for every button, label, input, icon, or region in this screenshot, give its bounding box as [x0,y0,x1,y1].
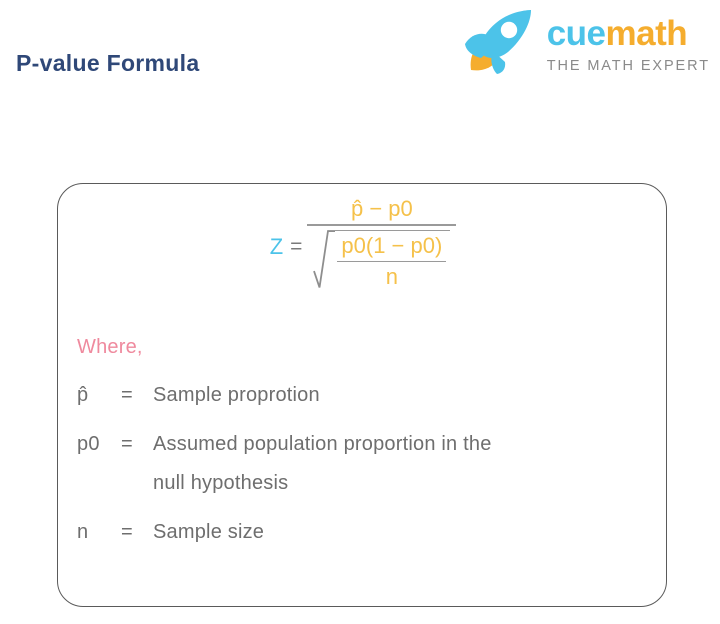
definition-equals: = [121,384,153,407]
fraction-numerator: p̂ − p0 [307,196,456,224]
definitions-list: p̂ = Sample proprotion p0 = Assumed popu… [77,384,657,570]
definition-text: Sample size [153,521,657,544]
brand-name-math: math [606,14,688,53]
definition-symbol: n [77,521,121,544]
where-label: Where, [77,336,143,359]
definition-text-continuation: null hypothesis [153,472,657,495]
definition-row: n = Sample size [77,521,657,544]
brand-name-cue: cue [547,14,606,53]
square-root-icon [313,230,335,292]
definition-row: p̂ = Sample proprotion [77,384,657,407]
definition-row: p0 = Assumed population proportion in th… [77,433,657,456]
brand-wordmark: cuemath [547,16,687,51]
square-root-group: p0(1 − p0) n [313,228,450,292]
definition-symbol: p0 [77,433,121,456]
brand-tagline: THE MATH EXPERT [547,58,710,74]
fraction-denominator: p0(1 − p0) n [307,226,456,298]
definition-symbol: p̂ [77,384,121,407]
radicand-numerator: p0(1 − p0) [337,232,446,261]
equation-equals-sign: = [290,235,302,259]
definition-equals: = [121,433,153,456]
pvalue-equation: Z = p̂ − p0 p0(1 − p0) n [58,196,668,297]
formula-card: Z = p̂ − p0 p0(1 − p0) n [57,183,667,607]
definition-text: Sample proprotion [153,384,657,407]
brand-text: cuemath THE MATH EXPERT [547,12,710,74]
page-header: P-value Formula cuemath THE MATH EXPERT [0,0,720,100]
page-title: P-value Formula [16,50,199,77]
radicand: p0(1 − p0) n [335,230,450,292]
definition-text: Assumed population proportion in the [153,433,657,456]
definition-equals: = [121,521,153,544]
cuemath-logo[interactable]: cuemath THE MATH EXPERT [461,8,710,78]
main-fraction: p̂ − p0 p0(1 − p0) n [307,196,456,297]
equation-expression: Z = p̂ − p0 p0(1 − p0) n [270,196,457,297]
rocket-icon [461,8,535,78]
equation-lhs-variable: Z [270,234,283,260]
radicand-denominator: n [337,262,446,291]
